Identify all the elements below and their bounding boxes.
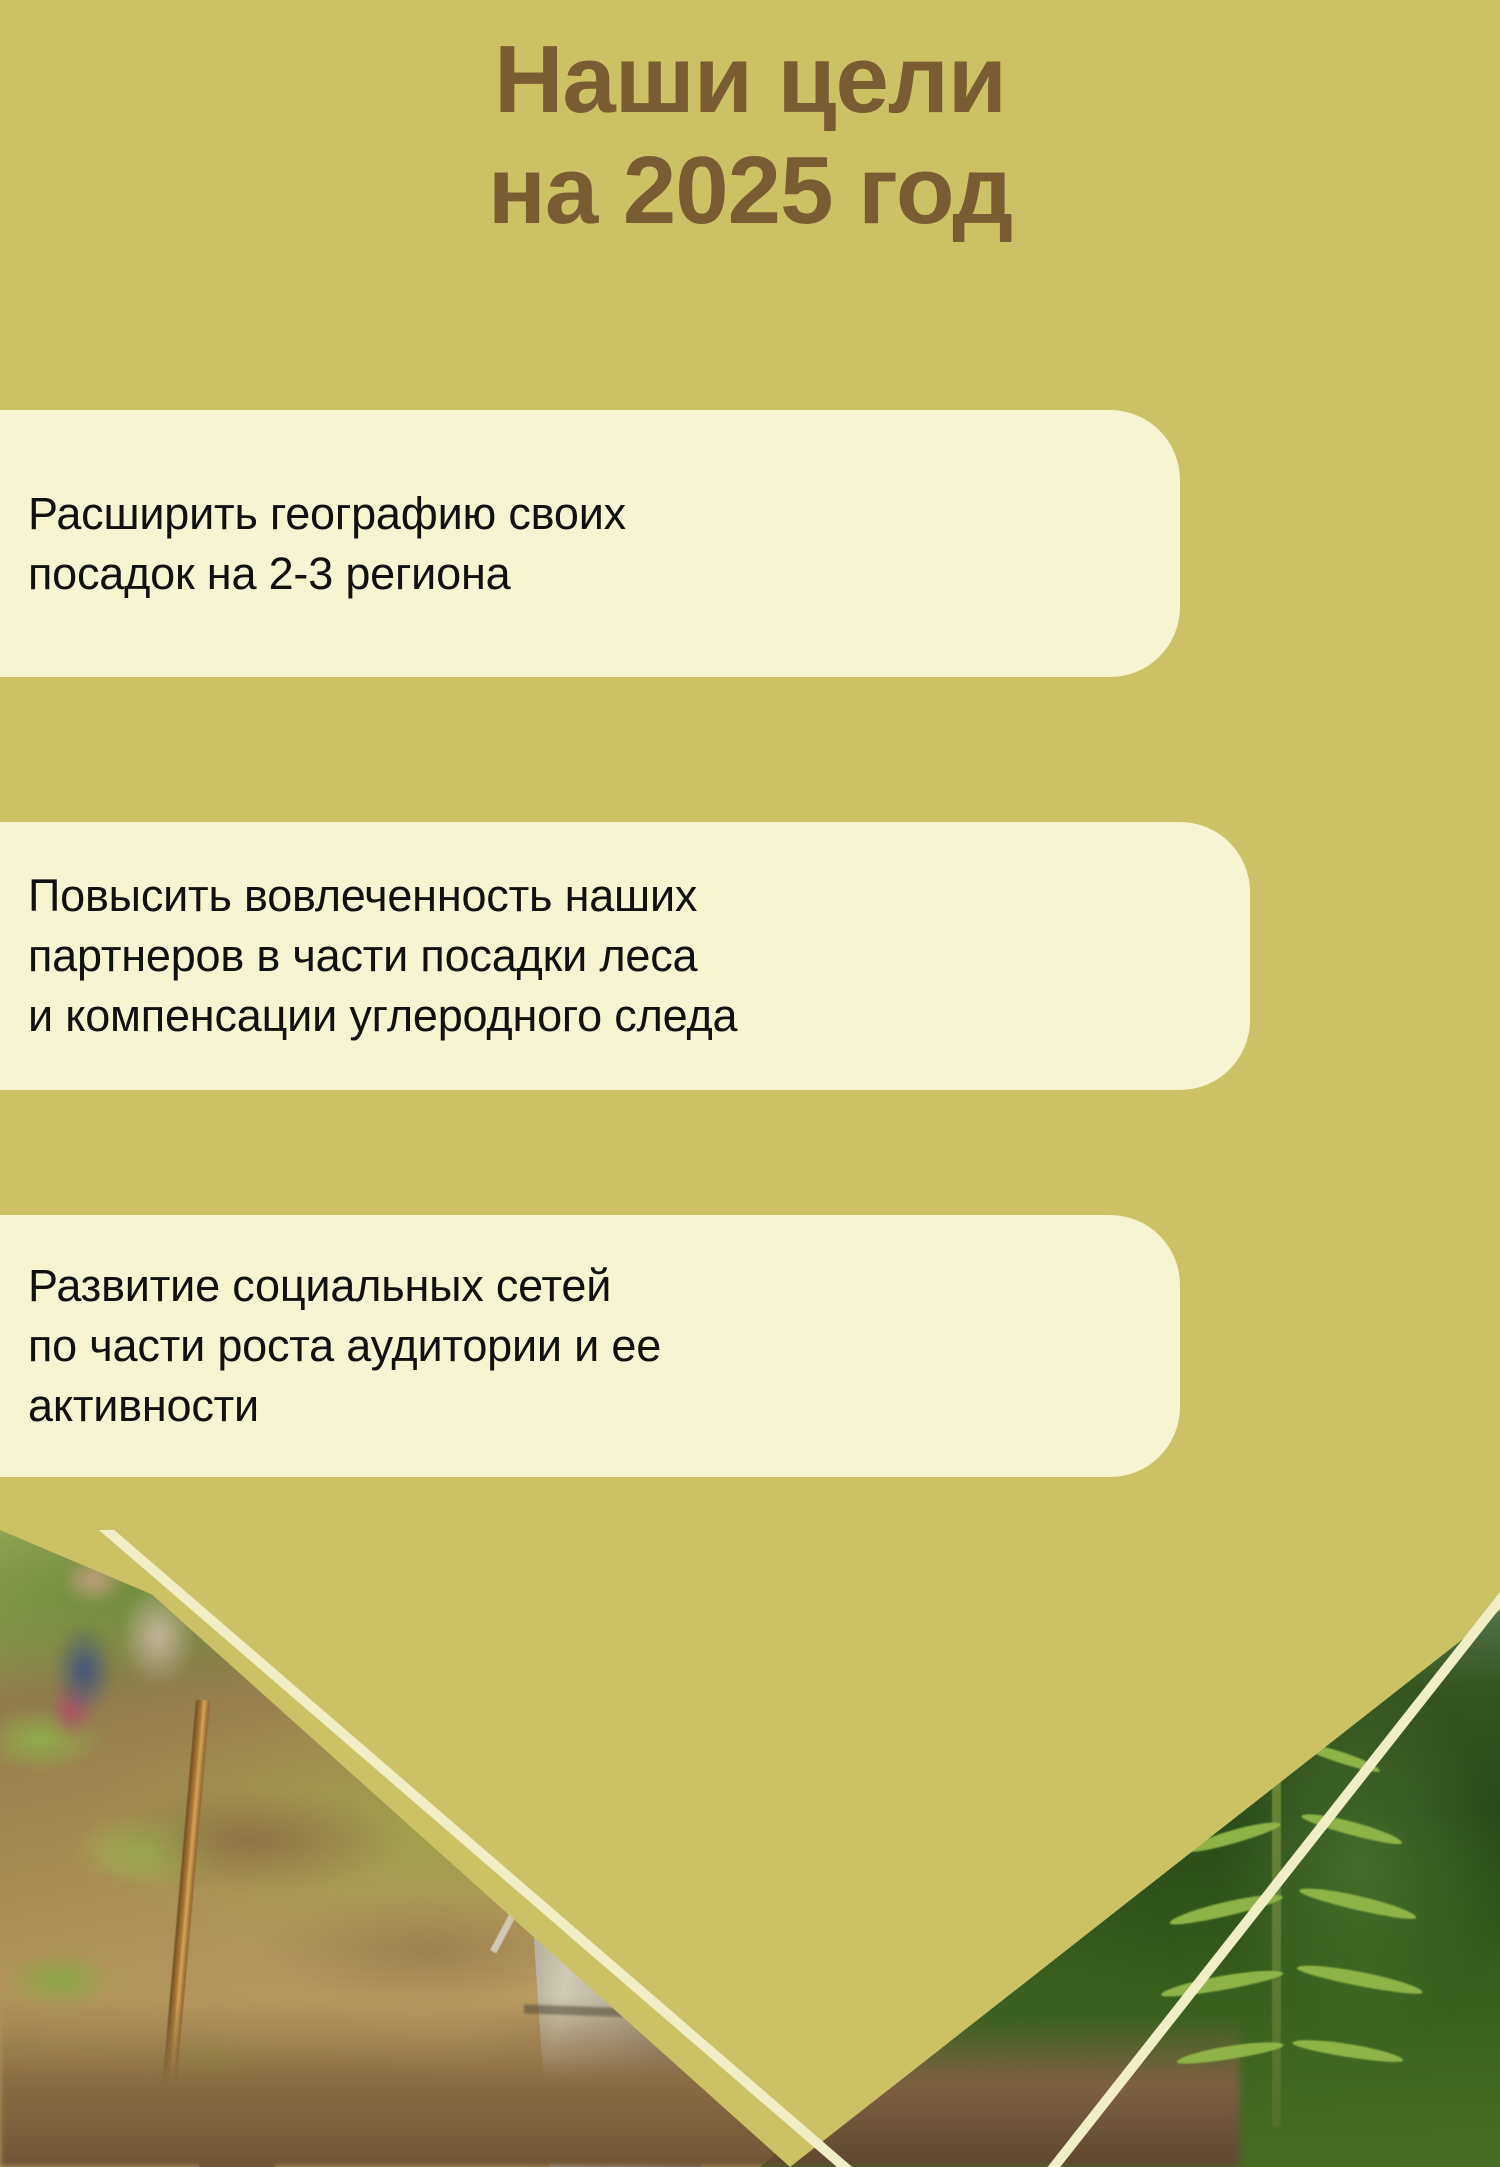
page-title: Наши цели на 2025 год [0,24,1500,247]
goal-card-social-text: Развитие социальных сетей по части роста… [28,1256,661,1436]
goal-card-partners: Повысить вовлеченность наших партнеров в… [0,822,1250,1090]
goal-card-geography-text: Расширить географию своих посадок на 2-3… [28,484,626,604]
photo-collage [0,1530,1500,2167]
title-line-1: Наши цели [0,24,1500,135]
goal-card-social: Развитие социальных сетей по части роста… [0,1215,1180,1477]
goal-card-partners-text: Повысить вовлеченность наших партнеров в… [28,866,737,1046]
poster-slide: Наши цели на 2025 год Расширить географи… [0,0,1500,2167]
goal-card-geography: Расширить географию своих посадок на 2-3… [0,410,1180,677]
title-line-2: на 2025 год [0,135,1500,246]
